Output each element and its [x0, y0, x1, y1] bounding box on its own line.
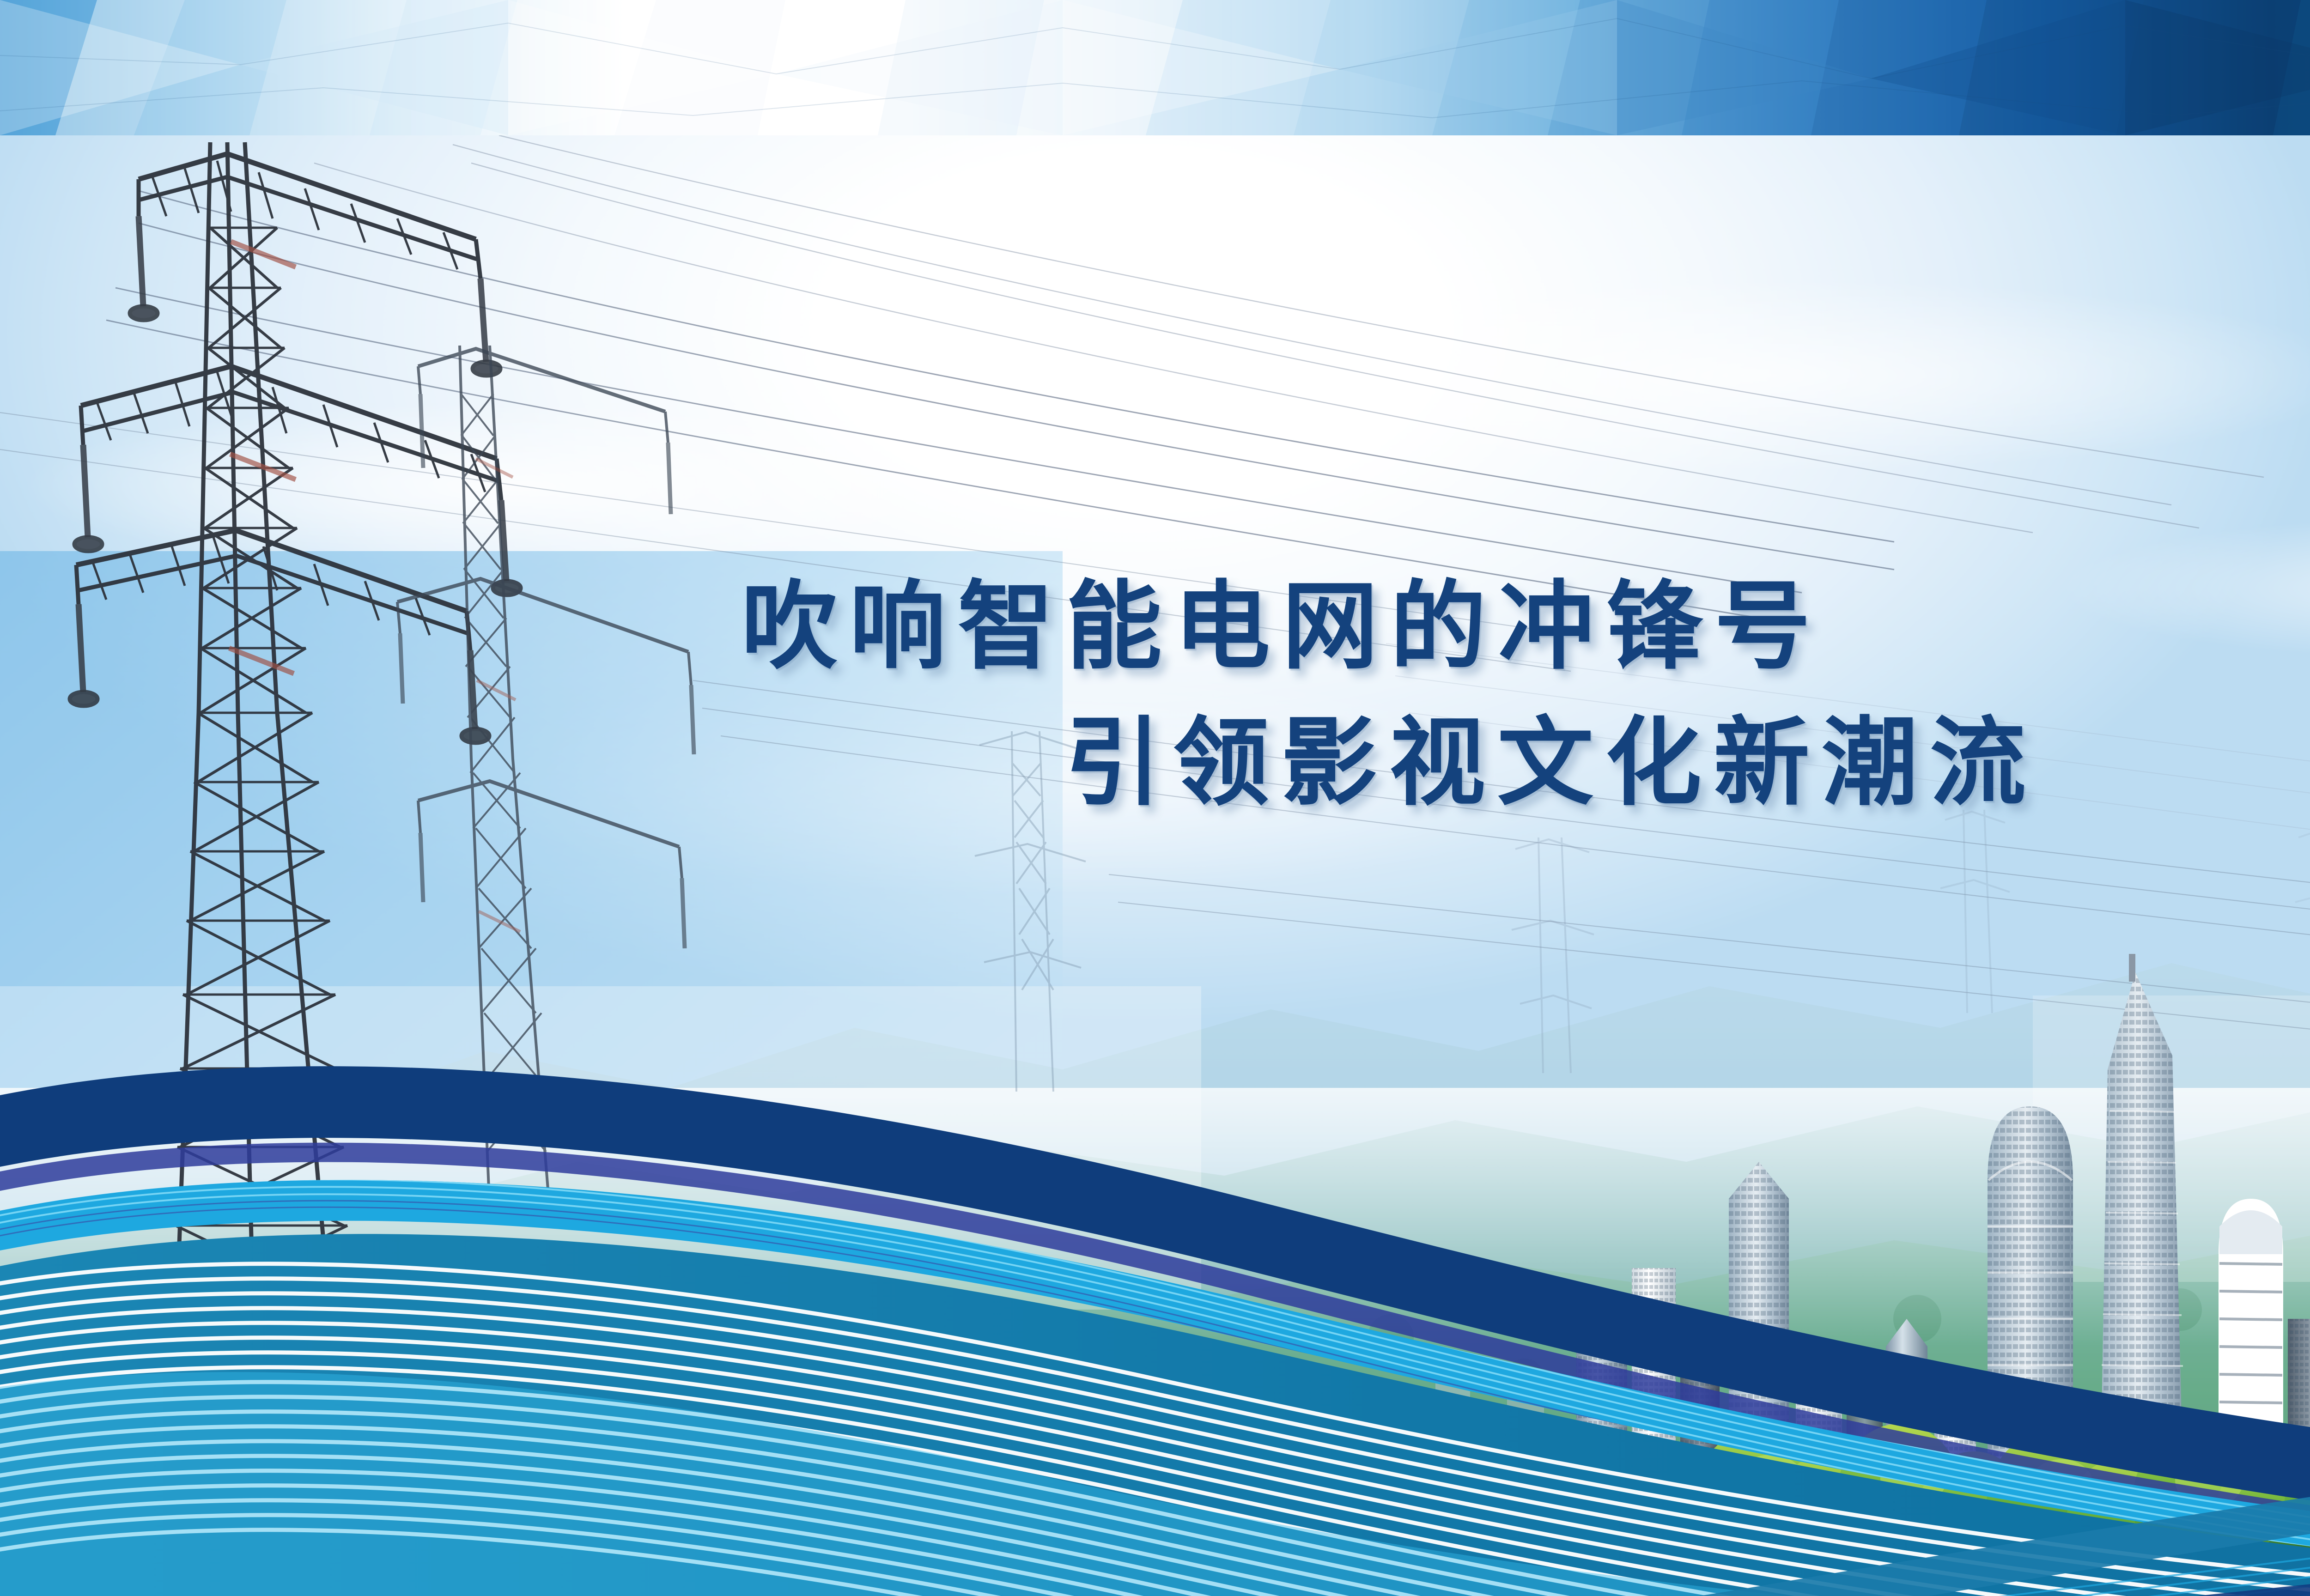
low-poly-banner-svg	[0, 0, 2310, 135]
riverside-treeline	[1267, 1397, 2310, 1596]
treeline-svg	[1267, 1397, 2310, 1596]
main-pylon	[70, 142, 521, 1396]
poster-canvas: 吹响智能电网的冲锋号 引领影视文化新潮流	[0, 0, 2310, 1596]
secondary-pylon	[397, 346, 694, 1212]
low-poly-banner	[0, 0, 2310, 135]
photo-scene	[0, 135, 2310, 1596]
